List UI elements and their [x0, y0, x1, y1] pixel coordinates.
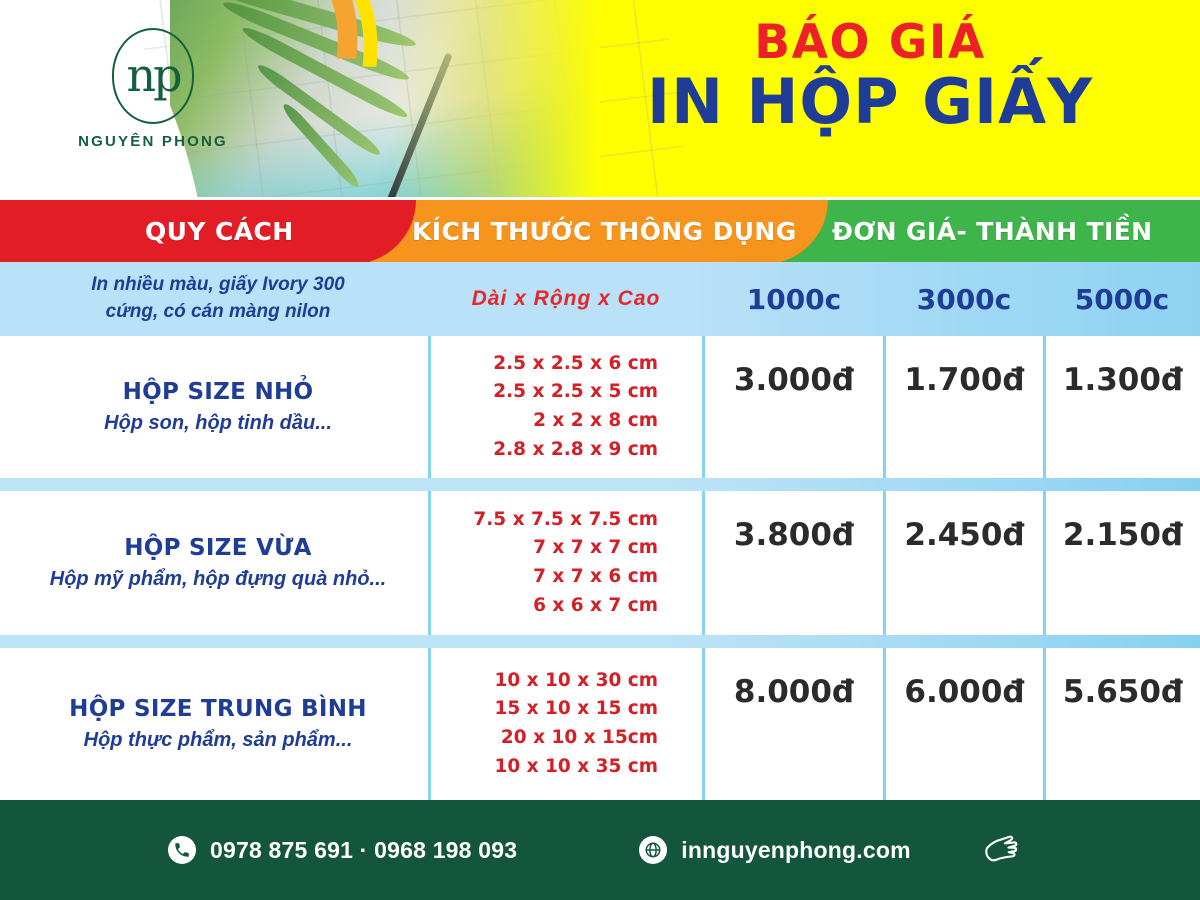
- row-divider: [0, 478, 1200, 491]
- price-cell-1000c: 3.800đ: [705, 491, 883, 635]
- logo-oval-outline: np: [112, 28, 194, 124]
- footer-website-group[interactable]: innguyenphong.com: [639, 836, 911, 864]
- qty-header-1000c: 1000c: [704, 262, 884, 336]
- price-cell-3000c: 1.700đ: [886, 336, 1043, 478]
- spec-line-1: In nhiều màu, giấy Ivory 300: [91, 272, 344, 299]
- banner-footer: 0978 875 691 · 0968 198 093 innguyenphon…: [0, 800, 1200, 900]
- logo-company-name: NGUYÊN PHONG: [58, 133, 248, 150]
- pricing-table-body: HỘP SIZE NHỎ Hộp son, hộp tinh dầu... 2.…: [0, 336, 1200, 800]
- price-cell-1000c: 3.000đ: [705, 336, 883, 478]
- row-divider: [0, 635, 1200, 648]
- banner-title: BÁO GIÁ IN HỘP GIẤY: [560, 18, 1180, 134]
- dimension-line: 20 x 10 x 15cm: [501, 724, 658, 753]
- price-cell-1000c: 8.000đ: [705, 648, 883, 800]
- spec-description-cell: In nhiều màu, giấy Ivory 300 cứng, có cá…: [8, 262, 428, 336]
- table-row: HỘP SIZE NHỎ Hộp son, hộp tinh dầu... 2.…: [0, 336, 1200, 478]
- banner-header: np NGUYÊN PHONG BÁO GIÁ IN HỘP GIẤY: [0, 0, 1200, 197]
- category-title: HỘP SIZE NHỎ: [123, 379, 314, 405]
- dimensions-cell: 2.5 x 2.5 x 6 cm 2.5 x 2.5 x 5 cm 2 x 2 …: [432, 336, 694, 478]
- category-subtitle: Hộp thực phẩm, sản phẩm...: [84, 729, 353, 752]
- dimension-line: 6 x 6 x 7 cm: [533, 592, 658, 621]
- table-subheader-row: In nhiều màu, giấy Ivory 300 cứng, có cá…: [0, 262, 1200, 336]
- table-row: HỘP SIZE VỪA Hộp mỹ phẩm, hộp đựng quà n…: [0, 491, 1200, 635]
- dimensions-cell: 7.5 x 7.5 x 7.5 cm 7 x 7 x 7 cm 7 x 7 x …: [432, 491, 694, 635]
- dimension-line: 7 x 7 x 6 cm: [533, 563, 658, 592]
- dimension-line: 10 x 10 x 30 cm: [494, 667, 658, 696]
- footer-phone-group[interactable]: 0978 875 691 · 0968 198 093: [168, 836, 517, 864]
- column-header-kich-thuoc: KÍCH THƯỚC THÔNG DỤNG: [412, 200, 797, 262]
- dimension-line: 15 x 10 x 15 cm: [494, 695, 658, 724]
- phone-icon: [168, 836, 196, 864]
- table-column-header-bar: QUY CÁCH KÍCH THƯỚC THÔNG DỤNG ĐƠN GIÁ- …: [0, 200, 1200, 262]
- category-title: HỘP SIZE VỪA: [124, 535, 312, 561]
- dimensions-cell: 10 x 10 x 30 cm 15 x 10 x 15 cm 20 x 10 …: [432, 648, 694, 800]
- title-line-1: BÁO GIÁ: [560, 18, 1180, 67]
- price-cell-3000c: 6.000đ: [886, 648, 1043, 800]
- pointing-hand-icon[interactable]: [981, 831, 1027, 869]
- price-cell-5000c: 1.300đ: [1046, 336, 1200, 478]
- dimension-line: 2 x 2 x 8 cm: [533, 407, 658, 436]
- footer-phone-text: 0978 875 691 · 0968 198 093: [210, 837, 517, 864]
- company-logo: np NGUYÊN PHONG: [58, 28, 248, 150]
- dimension-line: 2.5 x 2.5 x 6 cm: [493, 350, 658, 379]
- dimension-line: 7 x 7 x 7 cm: [533, 534, 658, 563]
- globe-icon: [639, 836, 667, 864]
- column-header-don-gia: ĐƠN GIÁ- THÀNH TIỀN: [832, 200, 1153, 262]
- category-subtitle: Hộp mỹ phẩm, hộp đựng quà nhỏ...: [50, 568, 386, 591]
- category-title: HỘP SIZE TRUNG BÌNH: [69, 696, 367, 722]
- category-cell: HỘP SIZE TRUNG BÌNH Hộp thực phẩm, sản p…: [8, 648, 428, 800]
- dimensions-legend: Dài x Rộng x Cao: [430, 262, 702, 336]
- pricing-banner: np NGUYÊN PHONG BÁO GIÁ IN HỘP GIẤY QUY …: [0, 0, 1200, 900]
- dimension-line: 2.8 x 2.8 x 9 cm: [493, 436, 658, 465]
- spec-line-2: cứng, có cán màng nilon: [106, 299, 331, 326]
- dimension-line: 2.5 x 2.5 x 5 cm: [493, 378, 658, 407]
- price-cell-3000c: 2.450đ: [886, 491, 1043, 635]
- category-cell: HỘP SIZE NHỎ Hộp son, hộp tinh dầu...: [8, 336, 428, 478]
- category-subtitle: Hộp son, hộp tinh dầu...: [104, 412, 332, 435]
- column-header-quy-cach: QUY CÁCH: [145, 200, 294, 262]
- price-cell-5000c: 2.150đ: [1046, 491, 1200, 635]
- qty-header-3000c: 3000c: [884, 262, 1044, 336]
- dimension-line: 7.5 x 7.5 x 7.5 cm: [473, 506, 658, 535]
- category-cell: HỘP SIZE VỪA Hộp mỹ phẩm, hộp đựng quà n…: [8, 491, 428, 635]
- footer-website-text: innguyenphong.com: [681, 837, 911, 864]
- table-row: HỘP SIZE TRUNG BÌNH Hộp thực phẩm, sản p…: [0, 648, 1200, 800]
- qty-header-5000c: 5000c: [1044, 262, 1200, 336]
- title-line-2: IN HỘP GIẤY: [560, 69, 1180, 134]
- logo-monogram: np: [114, 52, 192, 98]
- price-cell-5000c: 5.650đ: [1046, 648, 1200, 800]
- dimension-line: 10 x 10 x 35 cm: [494, 753, 658, 782]
